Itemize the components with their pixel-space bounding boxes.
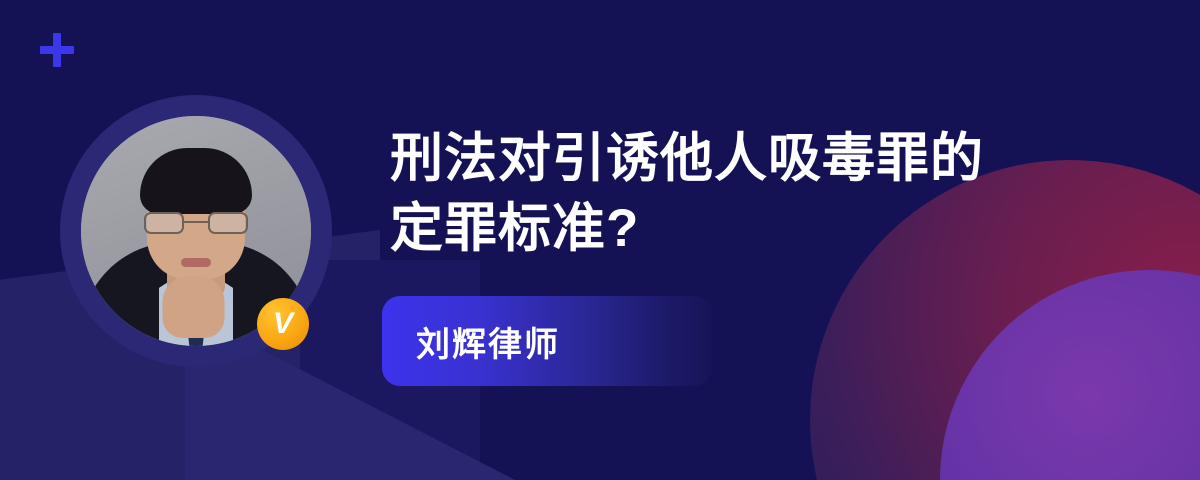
portrait-hand [163, 276, 225, 338]
title-line-1: 刑法对引诱他人吸毒罪的 [390, 129, 984, 188]
plus-icon [40, 33, 74, 67]
title-line-2: 定罪标准? [390, 199, 639, 258]
portrait-mouth [181, 258, 211, 267]
avatar: V [60, 95, 332, 367]
banner-card: V 刑法对引诱他人吸毒罪的 定罪标准? 刘辉律师 [0, 0, 1200, 480]
author-badge[interactable]: 刘辉律师 [382, 296, 712, 386]
glasses-lens-left [144, 212, 184, 234]
verified-badge-icon: V [257, 298, 309, 350]
author-name: 刘辉律师 [382, 317, 560, 366]
glasses-lens-right [208, 212, 248, 234]
glasses-icon [144, 212, 248, 234]
page-title: 刑法对引诱他人吸毒罪的 定罪标准? [390, 124, 1050, 265]
glasses-bridge [184, 221, 208, 223]
